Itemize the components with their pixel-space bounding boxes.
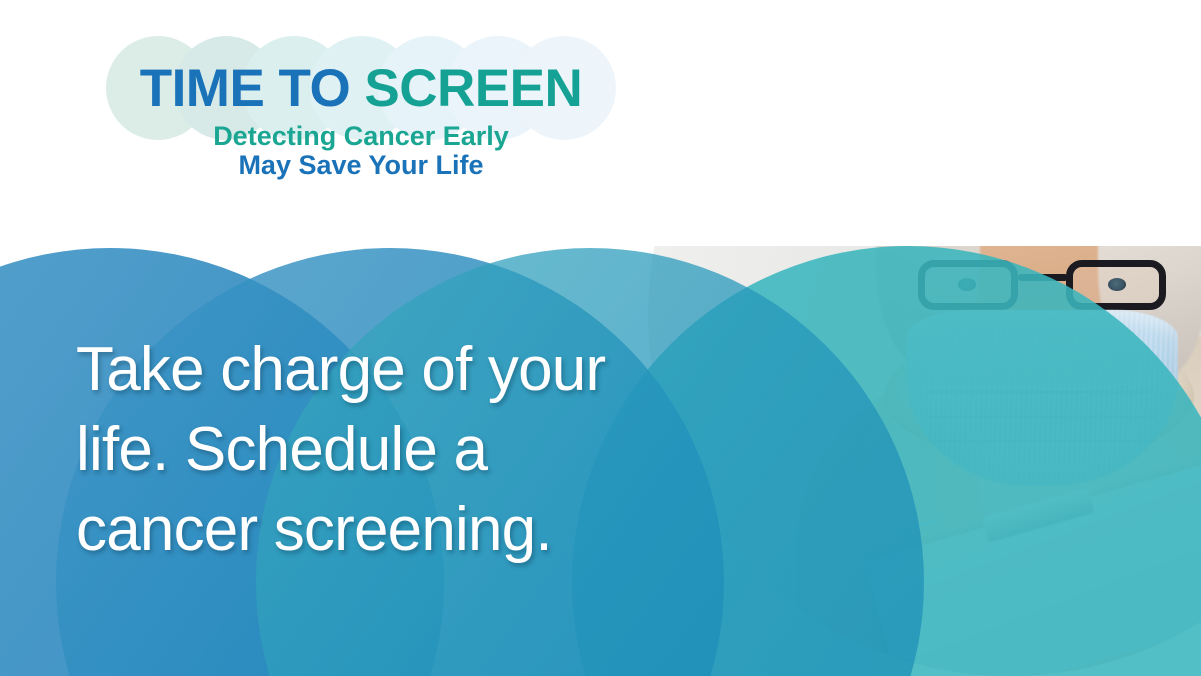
eye-right [1108, 278, 1126, 291]
logo-tagline-line-1: Detecting Cancer Early [106, 115, 616, 150]
campaign-headline: Take charge of your life. Schedule a can… [76, 330, 716, 570]
headline-line-3: cancer screening. [76, 490, 716, 570]
time-to-screen-logo: TIME TO SCREEN Detecting Cancer Early Ma… [106, 36, 616, 188]
logo-text-block: TIME TO SCREEN Detecting Cancer Early Ma… [106, 36, 616, 180]
logo-title: TIME TO SCREEN [106, 36, 616, 115]
campaign-banner: TIME TO SCREEN Detecting Cancer Early Ma… [0, 0, 1201, 676]
logo-title-screen: SCREEN [364, 59, 582, 118]
logo-tagline-line-2: May Save Your Life [106, 150, 616, 180]
headline-line-2: life. Schedule a [76, 410, 716, 490]
logo-title-time-to: TIME TO [140, 59, 365, 118]
headline-line-1: Take charge of your [76, 330, 716, 410]
